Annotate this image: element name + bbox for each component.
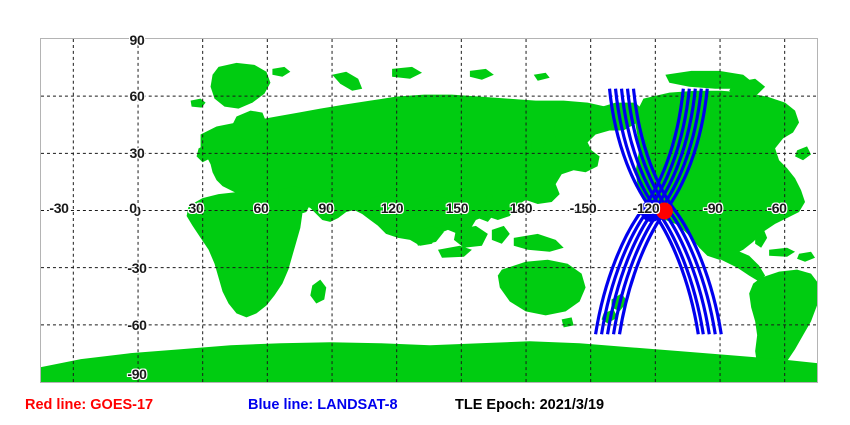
lon-tick-30: 30 — [189, 201, 204, 215]
lon-tick-m120: -120 — [633, 201, 660, 215]
lat-tick-m30: -30 — [127, 261, 146, 275]
lon-tick-m30: -30 — [49, 201, 68, 215]
lat-tick-m60: -60 — [127, 318, 146, 332]
lat-tick-60: 60 — [130, 89, 145, 103]
legend-blue-line-label: Blue line: LANDSAT-8 — [248, 398, 398, 413]
lon-tick-m150: -150 — [570, 201, 597, 215]
legend-red-line-label: Red line: GOES-17 — [25, 398, 153, 413]
map-canvas — [41, 39, 817, 382]
lon-tick-m60: -60 — [767, 201, 786, 215]
lat-tick-m90: -90 — [127, 367, 146, 381]
lon-tick-m90: -90 — [703, 201, 722, 215]
legend-tle-epoch-label: TLE Epoch: 2021/3/19 — [455, 398, 604, 413]
lon-tick-90: 90 — [319, 201, 334, 215]
world-map[interactable] — [40, 38, 818, 383]
lon-tick-150: 150 — [446, 201, 468, 215]
lon-tick-0: 0 — [129, 201, 137, 215]
screenshot-root: 90 60 30 0 -30 -60 -90 -30 0 30 60 90 12… — [0, 0, 850, 425]
lon-tick-120: 120 — [381, 201, 403, 215]
legend-bar: Red line: GOES-17 Blue line: LANDSAT-8 T… — [0, 396, 850, 420]
lat-tick-90: 90 — [130, 33, 145, 47]
lat-tick-30: 30 — [130, 146, 145, 160]
lon-tick-60: 60 — [254, 201, 269, 215]
lon-tick-180: 180 — [510, 201, 532, 215]
